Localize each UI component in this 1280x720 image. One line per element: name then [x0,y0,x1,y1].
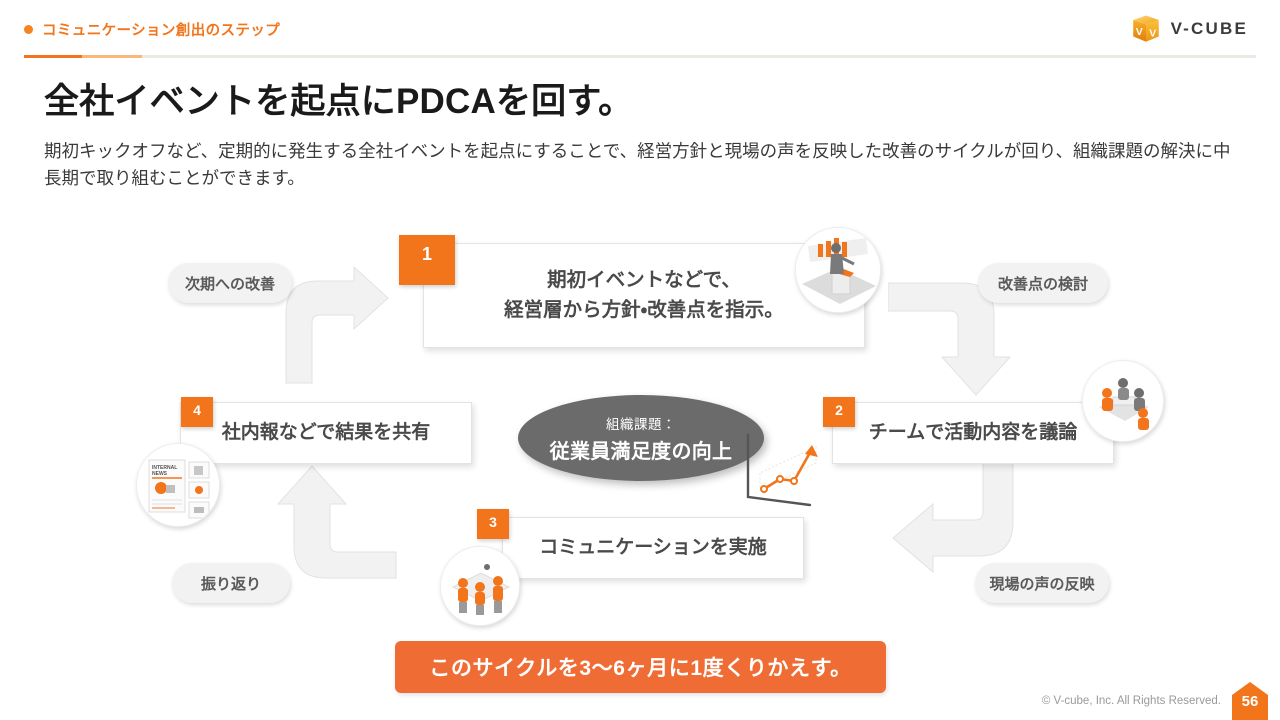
step-box-3[interactable]: コミュニケーションを実施 [502,517,804,579]
footer-copyright: © V-cube, Inc. All Rights Reserved. [1042,695,1221,707]
pill-reflect-field-voices[interactable]: 現場の声の反映 [975,563,1109,603]
team-meeting-illustration [1082,360,1164,442]
cta-banner[interactable]: このサイクルを3〜6ヶ月に1度くりかえす。 [395,641,886,693]
step-3-label: コミュニケーションを実施 [539,534,767,563]
header-divider [24,55,1256,58]
core-goal-bubble: 組織課題： 従業員満足度の向上 [518,395,764,481]
header-eyebrow-label: コミュニケーション創出のステップ [42,19,280,40]
cta-label: このサイクルを3〜6ヶ月に1度くりかえす。 [429,652,852,682]
svg-text:V: V [1135,26,1142,38]
page-number: 56 [1232,686,1268,716]
step-box-4[interactable]: 社内報などで結果を共有 [180,402,472,464]
people-talking-illustration [440,546,520,626]
step-badge-2: 2 [823,397,855,427]
step-2-label: チームで活動内容を議論 [869,419,1077,448]
pill-look-back[interactable]: 振り返り [172,563,290,603]
internal-newsletter-illustration: INTERNAL NEWS [136,443,220,527]
presentation-podium-illustration [795,227,881,313]
slide-root: コミュニケーション創出のステップ V V V-CUBE 全社イベン [0,0,1280,720]
svg-text:V: V [1149,28,1156,40]
svg-text:NEWS: NEWS [152,471,168,477]
page-title: 全社イベントを起点にPDCAを回す。 [44,73,633,124]
step-badge-1: 1 [399,235,455,285]
arrow-right-to-top-icon [268,460,398,585]
step-badge-4: 4 [181,397,213,427]
step-badge-3: 3 [477,509,509,539]
cube-logo-icon: V V [1131,14,1161,44]
lead-paragraph: 期初キックオフなど、定期的に発生する全社イベントを起点にすることで、経営方針と現… [44,138,1234,192]
pill-look-back-label: 振り返り [201,573,261,594]
header-eyebrow: コミュニケーション創出のステップ [24,19,280,40]
pill-reflect-field-voices-label: 現場の声の反映 [989,573,1094,594]
pill-review-improvement-points[interactable]: 改善点の検討 [978,263,1108,303]
pdca-cycle-diagram: 期初イベントなどで、 経営層から方針・改善点を指示。 1 [0,205,1280,665]
logo-wordmark: V-CUBE [1171,19,1248,39]
growth-chart-illustration [738,427,828,517]
step-4-label: 社内報などで結果を共有 [222,419,431,448]
step-1-label: 期初イベントなどで、 経営層から方針・改善点を指示。 [504,266,784,325]
core-main-label: 従業員満足度の向上 [550,435,733,464]
core-top-label: 組織課題： [606,413,676,433]
vcube-logo: V V V-CUBE [1131,14,1248,44]
pill-next-improvement[interactable]: 次期への改善 [168,263,292,303]
pill-review-improvement-points-label: 改善点の検討 [998,273,1088,294]
pill-next-improvement-label: 次期への改善 [185,273,275,294]
bullet-dot-icon [24,25,33,34]
step-box-2[interactable]: チームで活動内容を議論 [832,402,1114,464]
